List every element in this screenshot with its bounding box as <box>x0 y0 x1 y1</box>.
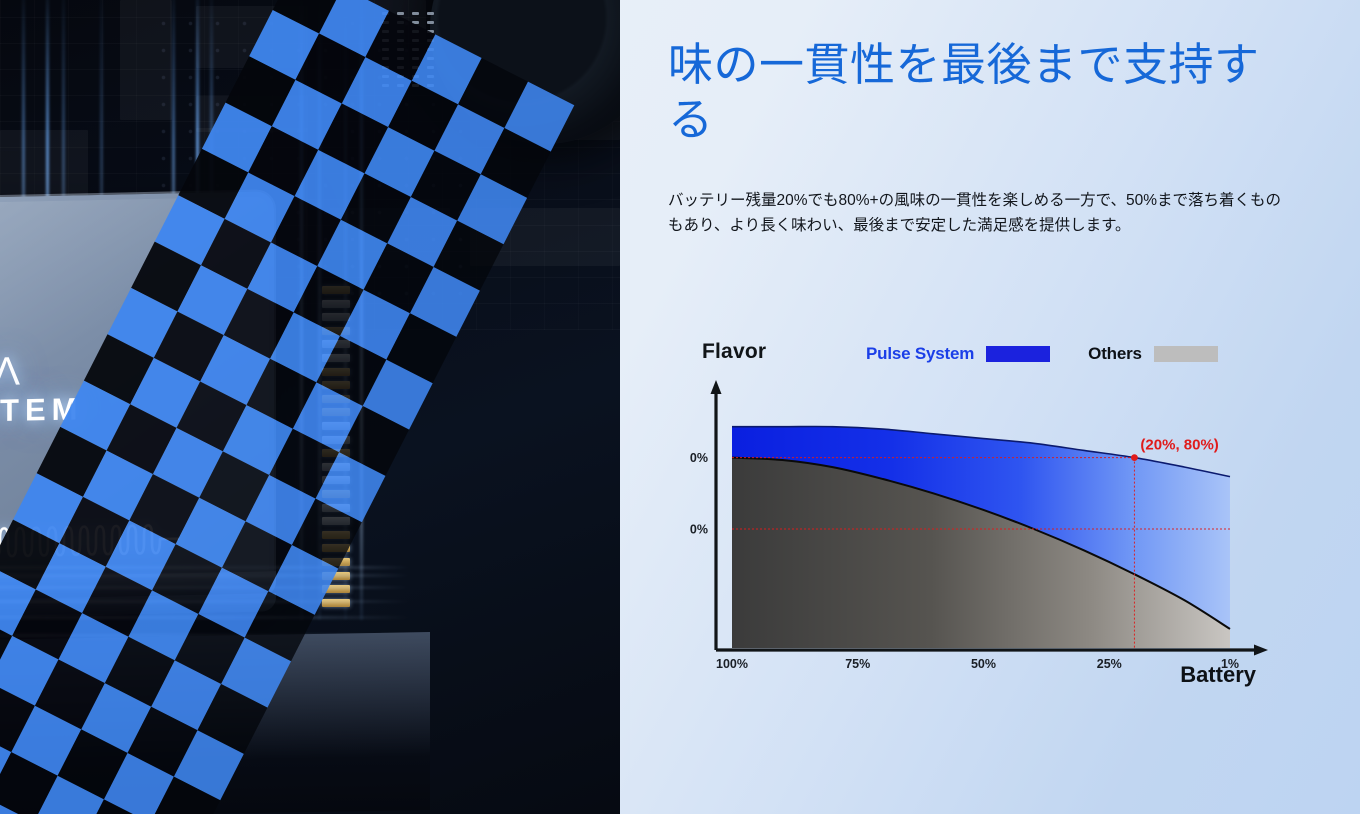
annotation-label: (20%, 80%) <box>1140 437 1218 454</box>
x-tick-label: 100% <box>716 657 748 671</box>
flavor-battery-chart: Flavor Pulse System Others <box>690 340 1290 690</box>
chart-series-layer <box>732 426 1230 648</box>
annotation-marker-dot <box>1131 454 1138 461</box>
page-title: 味の一貫性を最後まで支持する <box>668 38 1288 148</box>
slide-root: KVΛ SYSTEM 味の一貫性を最後まで支持する バッテリー残量20%でも80… <box>0 0 1360 814</box>
chart-plot-area: (20%, 80%) 80%50% 100%75%50%25%1% Batter… <box>690 374 1290 690</box>
body-paragraph: バッテリー残量20%でも80%+の風味の一貫性を楽しめる一方で、50%まで落ち着… <box>668 188 1294 238</box>
chart-x-ticks: 100%75%50%25%1% <box>716 657 1239 671</box>
legend-swatch-others <box>1154 346 1218 362</box>
content-column: 味の一貫性を最後まで支持する バッテリー残量20%でも80%+の風味の一貫性を楽… <box>668 0 1308 238</box>
legend-label-pulse-system: Pulse System <box>866 344 974 364</box>
hero-product-image: KVΛ SYSTEM <box>0 0 620 814</box>
chip-base-reflection <box>0 632 430 814</box>
chip-logo-word: SYSTEM <box>0 390 83 432</box>
chart-y-ticks: 80%50% <box>690 451 708 536</box>
y-tick-label: 50% <box>690 523 708 537</box>
chart-svg: (20%, 80%) 80%50% 100%75%50%25%1% Batter… <box>690 374 1290 690</box>
chart-y-axis-title: Flavor <box>702 340 766 364</box>
chart-legend: Pulse System Others <box>866 344 1218 364</box>
x-tick-label: 75% <box>845 657 870 671</box>
y-tick-label: 80% <box>690 451 708 465</box>
chip-logo-mark: KVΛ <box>0 350 83 393</box>
legend-swatch-pulse-system <box>986 346 1050 362</box>
chart-header: Flavor Pulse System Others <box>690 340 1290 374</box>
x-tick-label: 50% <box>971 657 996 671</box>
x-tick-label: 25% <box>1097 657 1122 671</box>
chart-x-axis-title: Battery <box>1180 662 1257 687</box>
waveform-icon <box>0 521 198 560</box>
chip-brand-logo: KVΛ SYSTEM <box>0 350 83 432</box>
legend-label-others: Others <box>1088 344 1142 364</box>
